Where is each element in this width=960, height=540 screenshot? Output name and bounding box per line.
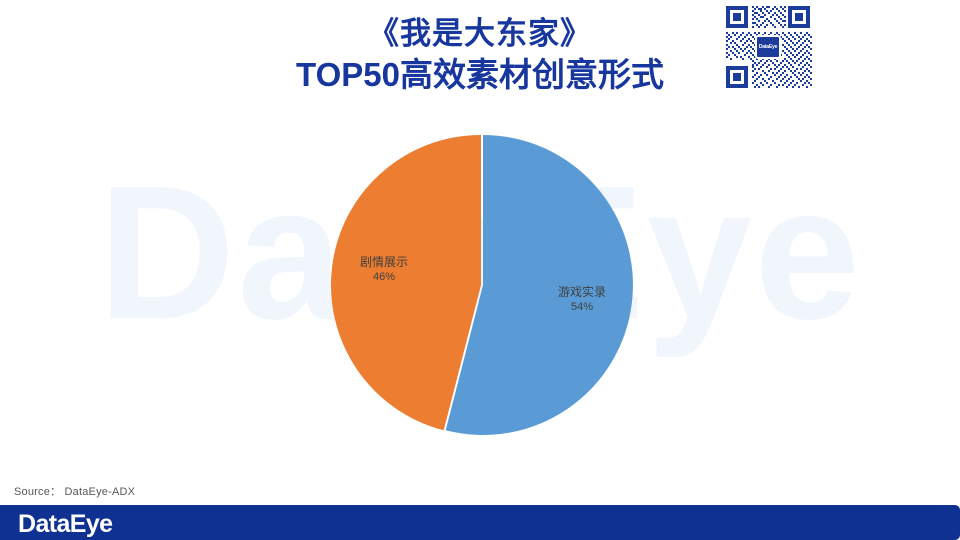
qr-code[interactable]: DataEye (722, 2, 814, 92)
pie-label-game-record-name: 游戏实录 (536, 285, 628, 300)
pie-label-game-record: 游戏实录 54% (536, 285, 628, 315)
pie-chart: 剧情展示 46% 游戏实录 54% (0, 100, 960, 460)
title-line-2: TOP50高效素材创意形式 (0, 54, 960, 96)
footer-bar: DataEye (0, 505, 960, 540)
page-title: 《我是大东家》 TOP50高效素材创意形式 (0, 14, 960, 96)
source-note: Source： DataEye-ADX (14, 483, 135, 499)
footer-logo: DataEye (18, 510, 112, 539)
pie-label-story-display-value: 46% (338, 270, 430, 285)
pie-label-story-display-name: 剧情展示 (338, 255, 430, 270)
title-line-1: 《我是大东家》 (0, 14, 960, 54)
qr-center-logo: DataEye (755, 35, 781, 59)
pie-label-game-record-value: 54% (536, 300, 628, 315)
pie-label-story-display: 剧情展示 46% (338, 255, 430, 285)
